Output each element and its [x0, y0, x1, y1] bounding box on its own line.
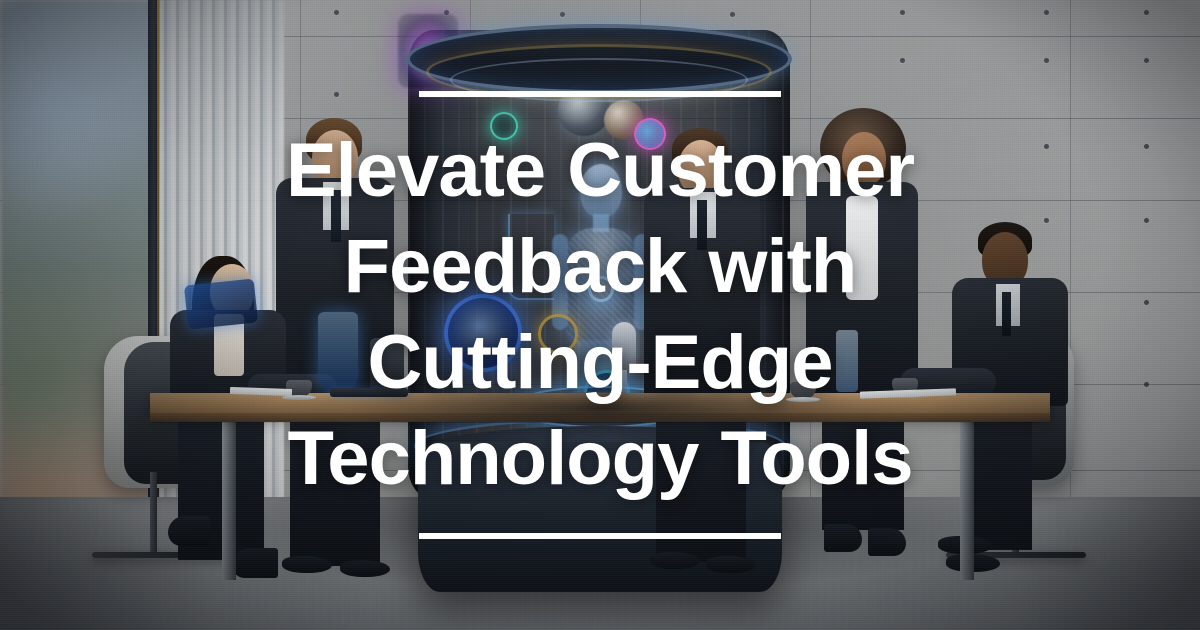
headline-line-3: Cutting-Edge [250, 315, 950, 411]
decorative-rule-top [419, 91, 781, 97]
headline-line-2: Feedback with [250, 219, 950, 315]
decorative-rule-bottom [419, 533, 781, 539]
poster-canvas: Elevate Customer Feedback with Cutting-E… [0, 0, 1200, 630]
headline-line-4: Technology Tools [250, 411, 950, 507]
headline-overlay: Elevate Customer Feedback with Cutting-E… [0, 0, 1200, 630]
headline-line-1: Elevate Customer [250, 123, 950, 219]
page-title: Elevate Customer Feedback with Cutting-E… [250, 123, 950, 507]
